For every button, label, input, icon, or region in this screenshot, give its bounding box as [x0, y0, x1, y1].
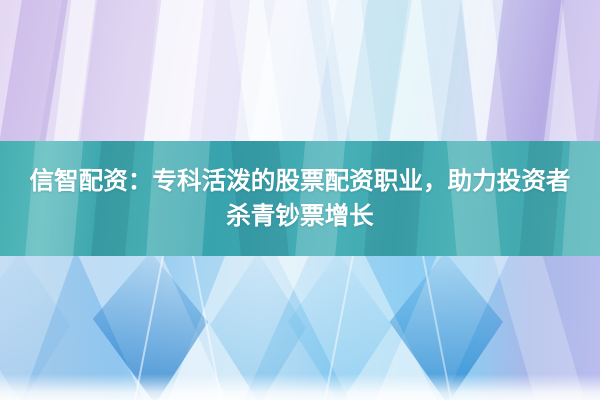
headline-line-1: 信智配资：专科活泼的股票配资职业，助力投资者 — [29, 164, 570, 199]
top-chevron-zone — [0, 0, 600, 141]
headline-block: 信智配资：专科活泼的股票配资职业，助力投资者 杀青钞票增长 — [0, 141, 600, 256]
decorative-title-banner: · · 信智配资：专科活泼的股票配资职业，助力投资者 杀青钞票增长 — [0, 0, 600, 400]
headline-line-2: 杀青钞票增长 — [226, 199, 374, 234]
bottom-diamond-zone: · · — [0, 256, 600, 400]
watermark-text: · · — [0, 387, 600, 397]
